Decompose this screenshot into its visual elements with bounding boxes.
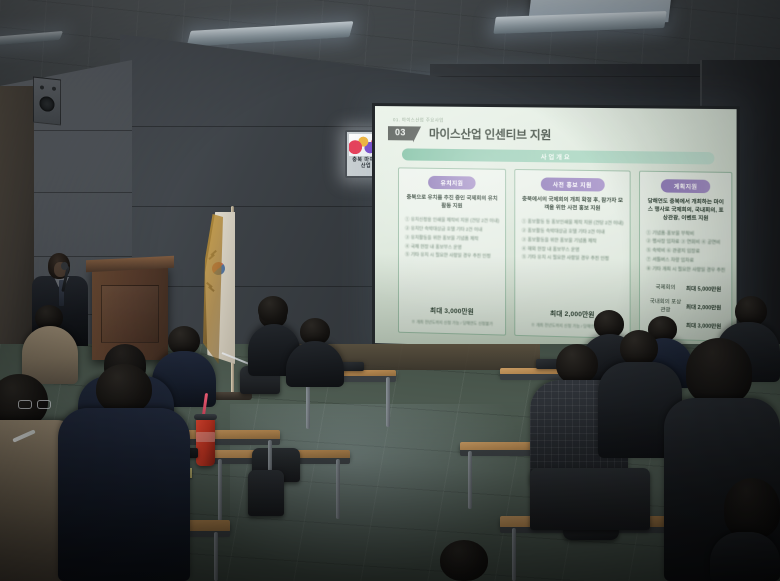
slide-number-badge: 03 [388, 126, 413, 140]
drink-cup [196, 418, 215, 466]
column-note: ※ 개최 전년도까지 신청 가능 / 당해연도 신청불가 [411, 319, 492, 327]
desk-leg [214, 532, 218, 581]
speaker-cone-icon [40, 95, 55, 112]
amount-label: 국내회의 포상관광 [648, 299, 682, 315]
slide-columns: 유치지원 충북으로 유치를 추진 중인 국제회의 유치활동 지원 ① 유치신청용… [398, 167, 717, 341]
column-amount: 최대 3,000만원 [430, 299, 474, 316]
list-item: ⑧ 기타 개최 시 필요한 사항일 경우 추진 [646, 264, 725, 275]
column-lead-text: 충북에서의 국제회의 개최 확정 후, 참가자 모객을 위한 사전 홍보 지원 [522, 195, 624, 213]
podium-front-panel [101, 285, 159, 343]
column-bullet-list: ① 홍보활동 등 홍보인쇄물 제작 지원 (건당 2건 이내) ② 홍보활동 숙… [522, 218, 624, 265]
slide-title-row: 03 마이스산업 인센티브 지원 [388, 125, 723, 145]
microphone-head [61, 262, 68, 270]
slide-column: 유치지원 충북으로 유치를 추진 중인 국제회의 유치활동 지원 ① 유치신청용… [398, 167, 506, 335]
list-item: ⑤ 기타 유치 시 필요한 사항일 경우 추진 인정 [522, 254, 624, 265]
glasses-lens-left [18, 400, 32, 409]
chair-back [248, 470, 284, 516]
presentation-slide: 01. 마이스산업 주요사업 03 마이스산업 인센티브 지원 사업개요 유치지… [375, 106, 737, 353]
cup-label [196, 432, 215, 442]
amount-value: 최대 2,000만원 [684, 304, 723, 312]
projection-screen: 01. 마이스산업 주요사업 03 마이스산업 인센티브 지원 사업개요 유치지… [372, 103, 740, 356]
desk-leg [512, 528, 516, 581]
slide-column: 계획지원 당해연도 충북에서 개최하는 마이스 행사로 국제회의, 국내회의, … [639, 171, 733, 342]
column-lead-text: 충북으로 유치를 추진 중인 국제회의 유치활동 지원 [405, 194, 499, 212]
column-lead-text: 당해연도 충북에서 개최하는 마이스 행사로 국제회의, 국내회의, 포상관광,… [646, 197, 725, 224]
list-item: ⑤ 기타 유치 시 필요한 사항일 경우 추진 인정 [405, 251, 499, 262]
cup-lid [194, 414, 217, 420]
slide-title: 마이스산업 인센티브 지원 [429, 126, 551, 143]
column-bullet-list: ① 기념품·홍보물 부착비 ② 행사장 임차료 ③ 연회비 ④ 공연비 ⑤ 숙박… [646, 229, 725, 276]
chair-back [530, 468, 650, 530]
left-pillar [0, 86, 34, 346]
desk-leg [468, 451, 472, 509]
column-pill-label: 유치지원 [428, 176, 475, 190]
desk-leg [218, 459, 222, 521]
eyeglasses [18, 400, 52, 409]
desk-leg [336, 459, 340, 519]
amount-label: 국제회의 [648, 284, 682, 292]
glasses-lens-right [37, 400, 51, 409]
lecture-hall-photo: 충북 마이스산업 01. 마이스산업 주요사업 03 마이스산업 인센티브 지원… [0, 0, 780, 581]
screen-surface: 01. 마이스산업 주요사업 03 마이스산업 인센티브 지원 사업개요 유치지… [375, 106, 737, 353]
slide-section-bar: 사업개요 [402, 148, 714, 164]
column-bullet-list: ① 유치신청용 인쇄물 제작비 지원 (건당 2건 이내) ② 유치단 숙박대상… [405, 216, 499, 262]
amount-value: 최대 5,000만원 [684, 285, 723, 293]
amount-value: 최대 3,000만원 [684, 322, 723, 330]
column-pill-label: 계획지원 [661, 179, 710, 193]
column-pill-label: 사전 홍보 지원 [540, 177, 604, 191]
desk-leg [386, 377, 390, 427]
column-amount: 최대 2,000만원 [550, 302, 595, 319]
wall-speaker [33, 77, 61, 126]
